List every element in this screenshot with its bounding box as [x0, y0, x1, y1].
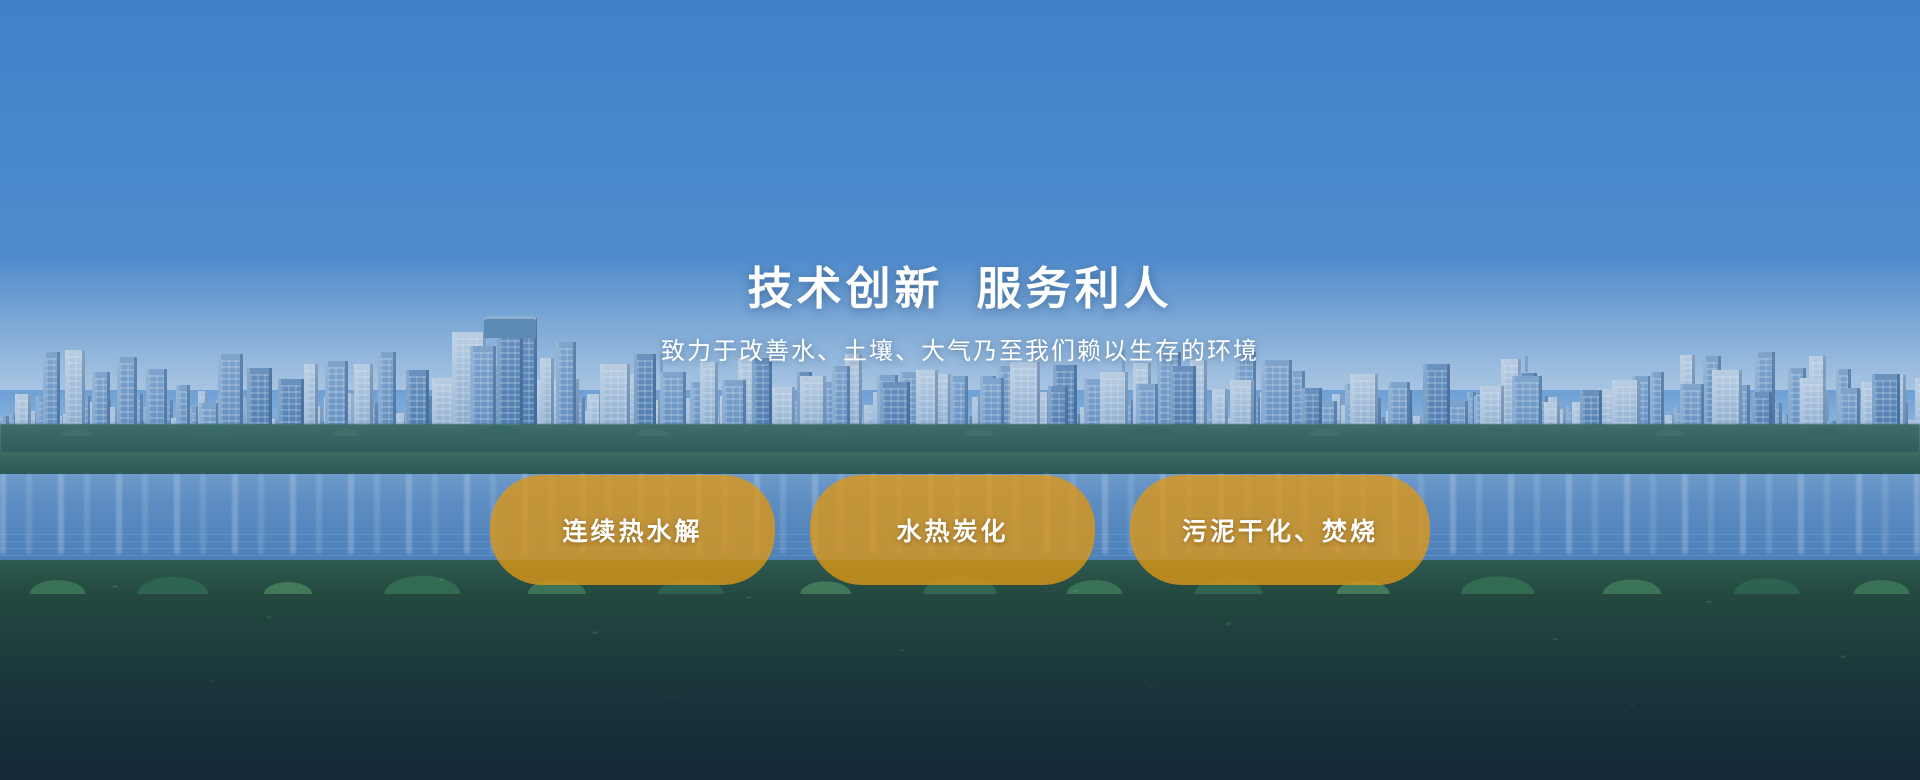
hero-title: 技术创新 服务利人 — [0, 262, 1920, 317]
hero-copy: 技术创新 服务利人 致力于改善水、土壤、大气乃至我们赖以生存的环境 — [0, 262, 1920, 366]
cta-button-sludge-drying-incineration[interactable]: 污泥干化、焚烧 — [1130, 475, 1430, 585]
mangrove-foreground — [0, 560, 1920, 780]
cta-button-continuous-thermal-hydrolysis[interactable]: 连续热水解 — [490, 475, 775, 585]
hero-subtitle: 致力于改善水、土壤、大气乃至我们赖以生存的环境 — [0, 331, 1920, 366]
foliage-texture — [0, 560, 1920, 780]
hero-banner: 技术创新 服务利人 致力于改善水、土壤、大气乃至我们赖以生存的环境 连续热水解 … — [0, 0, 1920, 780]
cta-button-row: 连续热水解 水热炭化 污泥干化、焚烧 — [0, 475, 1920, 585]
cta-button-hydrothermal-carbonization[interactable]: 水热炭化 — [810, 475, 1095, 585]
